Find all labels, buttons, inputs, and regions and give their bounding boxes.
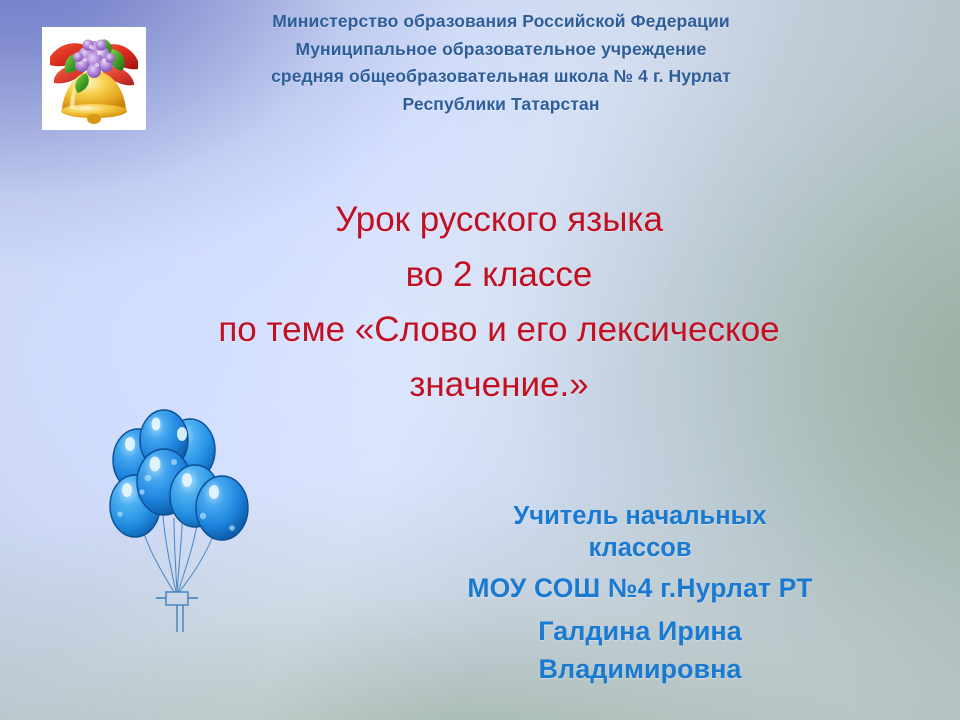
title-line-subject: Урок русского языка: [104, 192, 894, 247]
header-line-school: средняя общеобразовательная школа № 4 г.…: [178, 63, 824, 91]
institution-header: Министерство образования Российской Феде…: [178, 8, 824, 118]
title-slide: Министерство образования Российской Феде…: [0, 0, 960, 720]
title-line-grade: во 2 классе: [104, 247, 894, 302]
author-school-line: МОУ СОШ №4 г.Нурлат РТ: [386, 572, 894, 604]
author-role-line-2: классов: [386, 532, 894, 564]
lesson-title: Урок русского языка во 2 классе по теме …: [104, 192, 894, 412]
school-bell-image: [42, 27, 146, 130]
blue-balloons-image: [104, 396, 256, 648]
author-credits: Учитель начальных классов МОУ СОШ №4 г.Н…: [386, 500, 894, 688]
title-line-topic-1: по теме «Слово и его лексическое: [104, 302, 894, 357]
author-name-line-1: Галдина Ирина: [386, 612, 894, 650]
header-line-institution: Муниципальное образовательное учреждение: [178, 36, 824, 64]
header-line-republic: Республики Татарстан: [178, 91, 824, 119]
header-line-ministry: Министерство образования Российской Феде…: [178, 8, 824, 36]
author-name-line-2: Владимировна: [386, 650, 894, 688]
author-role-line-1: Учитель начальных: [386, 500, 894, 532]
